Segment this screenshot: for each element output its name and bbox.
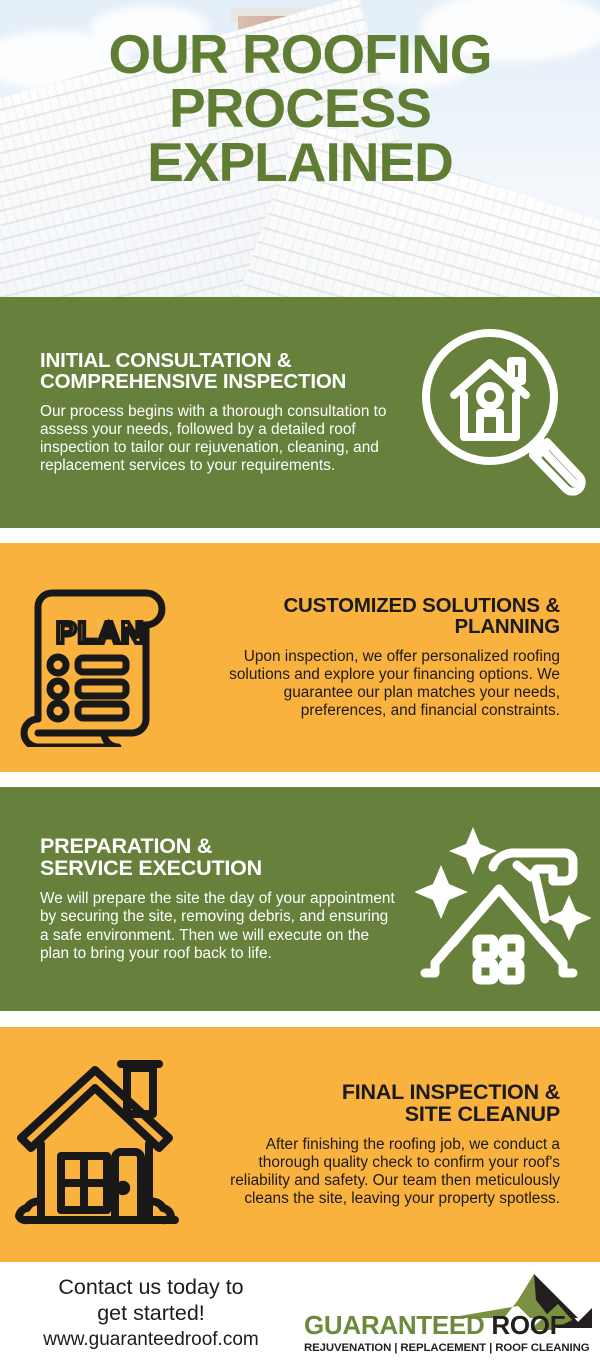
step-3-heading-line-2: SERVICE EXECUTION	[40, 856, 262, 880]
step-1-body: Our process begins with a thorough consu…	[40, 403, 400, 476]
plan-icon-label: PLAN	[56, 615, 144, 650]
page-title-line-1: OUR ROOFING	[0, 28, 600, 82]
step-3-heading-line-1: PREPARATION &	[40, 834, 212, 858]
step-2-heading: CUSTOMIZED SOLUTIONS & PLANNING	[210, 595, 560, 637]
step-3-text-block: PREPARATION & SERVICE EXECUTION We will …	[0, 835, 414, 963]
step-2-heading-line-2: PLANNING	[455, 615, 560, 638]
step-1-icon-container	[414, 325, 600, 501]
step-1-heading: INITIAL CONSULTATION & COMPREHENSIVE INS…	[40, 350, 400, 392]
page-title-line-2: PROCESS	[0, 82, 600, 136]
step-4-heading-line-1: FINAL INSPECTION &	[342, 1080, 560, 1104]
house-icon	[11, 1052, 189, 1238]
step-2-customized-solutions: PLAN CUSTOMIZED SOLUTIONS & PLANNING Upo…	[0, 543, 600, 772]
logo-word-guaranteed: GUARANTEED	[304, 1310, 484, 1340]
page-title: OUR ROOFING PROCESS EXPLAINED	[0, 28, 600, 190]
roof-hammer-sparkle-icon	[415, 811, 591, 987]
step-3-icon-container	[414, 811, 600, 987]
step-4-heading: FINAL INSPECTION & SITE CLEANUP	[210, 1081, 560, 1125]
footer-cta-block: Contact us today to get started! www.gua…	[0, 1275, 296, 1351]
step-4-final-inspection-cleanup: FINAL INSPECTION & SITE CLEANUP After fi…	[0, 1027, 600, 1262]
step-2-text-block: CUSTOMIZED SOLUTIONS & PLANNING Upon ins…	[196, 595, 600, 721]
step-4-icon-container	[0, 1052, 196, 1238]
footer-cta-line-1: Contact us today to	[6, 1275, 296, 1300]
page-title-line-3: EXPLAINED	[0, 136, 600, 190]
logo-wordmark: GUARANTEED ROOF	[304, 1310, 565, 1341]
header-banner: OUR ROOFING PROCESS EXPLAINED	[0, 0, 600, 297]
company-logo[interactable]: GUARANTEED ROOF REJUVENATION | REPLACEME…	[296, 1266, 600, 1360]
step-2-body: Upon inspection, we offer personalized r…	[210, 648, 560, 721]
step-4-text-block: FINAL INSPECTION & SITE CLEANUP After fi…	[196, 1081, 600, 1209]
step-3-preparation-execution: PREPARATION & SERVICE EXECUTION We will …	[0, 787, 600, 1011]
step-2-heading-line-1: CUSTOMIZED SOLUTIONS &	[283, 594, 560, 617]
step-3-heading: PREPARATION & SERVICE EXECUTION	[40, 835, 400, 879]
footer: Contact us today to get started! www.gua…	[0, 1262, 600, 1364]
plan-scroll-icon: PLAN	[14, 569, 186, 747]
step-1-heading-line-1: INITIAL CONSULTATION &	[40, 349, 291, 372]
footer-cta-line-2: get started!	[6, 1301, 296, 1326]
step-3-body: We will prepare the site the day of your…	[40, 890, 400, 963]
step-1-text-block: INITIAL CONSULTATION & COMPREHENSIVE INS…	[0, 350, 414, 476]
step-2-icon-container: PLAN	[0, 569, 196, 747]
infographic-page: OUR ROOFING PROCESS EXPLAINED INITIAL CO…	[0, 0, 600, 1364]
step-4-body: After finishing the roofing job, we cond…	[210, 1136, 560, 1209]
logo-tagline: REJUVENATION | REPLACEMENT | ROOF CLEANI…	[304, 1342, 589, 1354]
magnifying-glass-house-icon	[418, 325, 588, 501]
step-1-heading-line-2: COMPREHENSIVE INSPECTION	[40, 370, 346, 393]
footer-website-link[interactable]: www.guaranteedroof.com	[6, 1329, 296, 1351]
step-1-initial-consultation: INITIAL CONSULTATION & COMPREHENSIVE INS…	[0, 297, 600, 528]
logo-word-roof: ROOF	[484, 1310, 565, 1340]
step-4-heading-line-2: SITE CLEANUP	[405, 1102, 560, 1126]
